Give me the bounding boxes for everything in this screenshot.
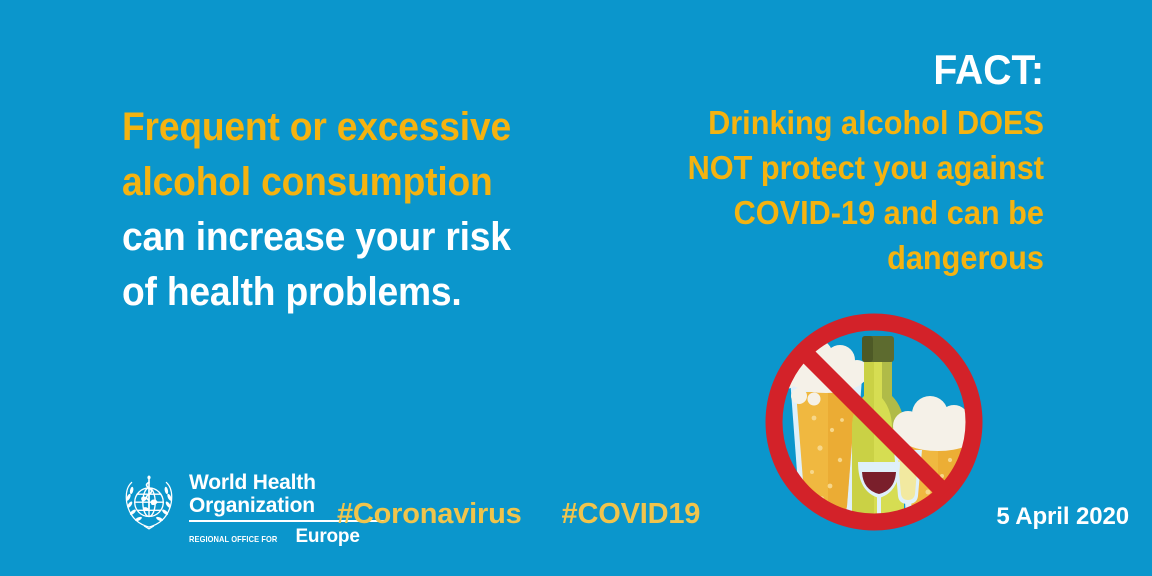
hashtag-covid19[interactable]: #COVID19 (562, 498, 701, 531)
fact-block: FACT: Drinking alcohol DOES NOT protect … (644, 44, 1044, 280)
hashtag-group: #Coronavirus #COVID19 (337, 498, 700, 531)
headline-plain-text: can increase your risk of health problem… (122, 215, 511, 314)
fact-body-text: Drinking alcohol DOES NOT protect you ag… (672, 100, 1044, 280)
who-region-prefix: REGIONAL OFFICE FOR (189, 534, 277, 544)
headline-message: Frequent or excessive alcohol consumptio… (122, 100, 522, 320)
who-name-line1: World Health (189, 472, 385, 495)
hashtag-coronavirus[interactable]: #Coronavirus (337, 498, 522, 531)
headline-highlighted-text: Frequent or excessive alcohol consumptio… (122, 105, 511, 204)
infographic-card: Frequent or excessive alcohol consumptio… (0, 0, 1152, 576)
no-alcohol-illustration (752, 300, 1012, 552)
who-emblem-icon (118, 470, 180, 532)
date-stamp: 5 April 2020 (996, 503, 1129, 531)
fact-label: FACT: (672, 44, 1044, 96)
